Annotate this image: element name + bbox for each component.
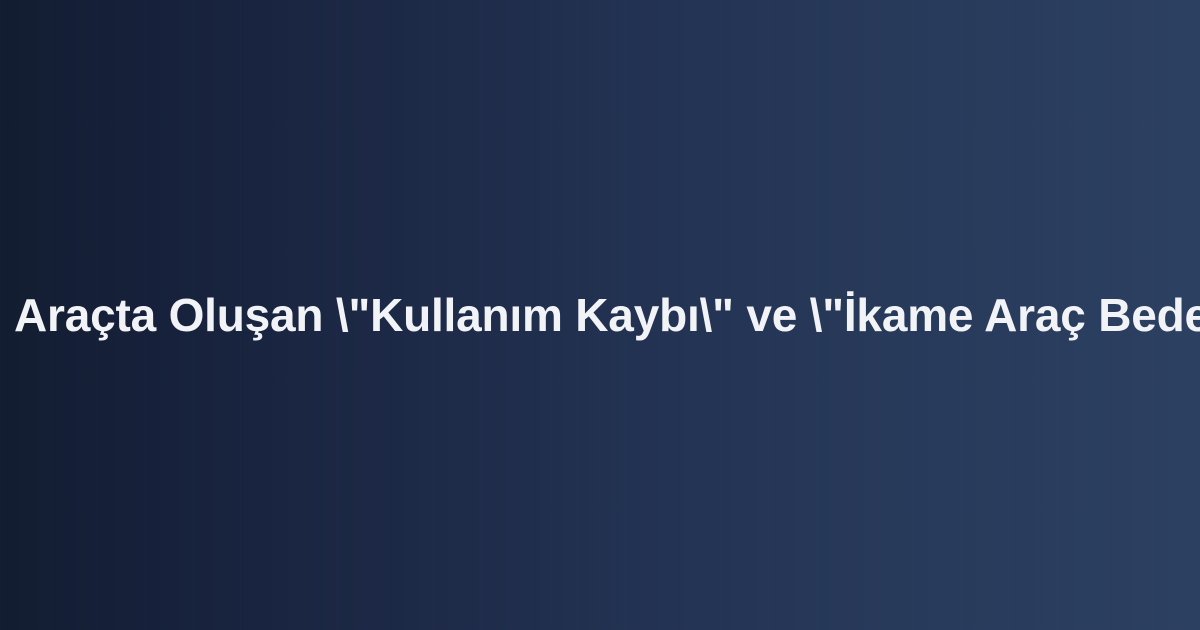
og-share-card: Araçta Oluşan \"Kullanım Kaybı\" ve \"İk… — [0, 0, 1200, 630]
page-title: Araçta Oluşan \"Kullanım Kaybı\" ve \"İk… — [14, 288, 1200, 342]
headline-band: Araçta Oluşan \"Kullanım Kaybı\" ve \"İk… — [0, 288, 1200, 342]
